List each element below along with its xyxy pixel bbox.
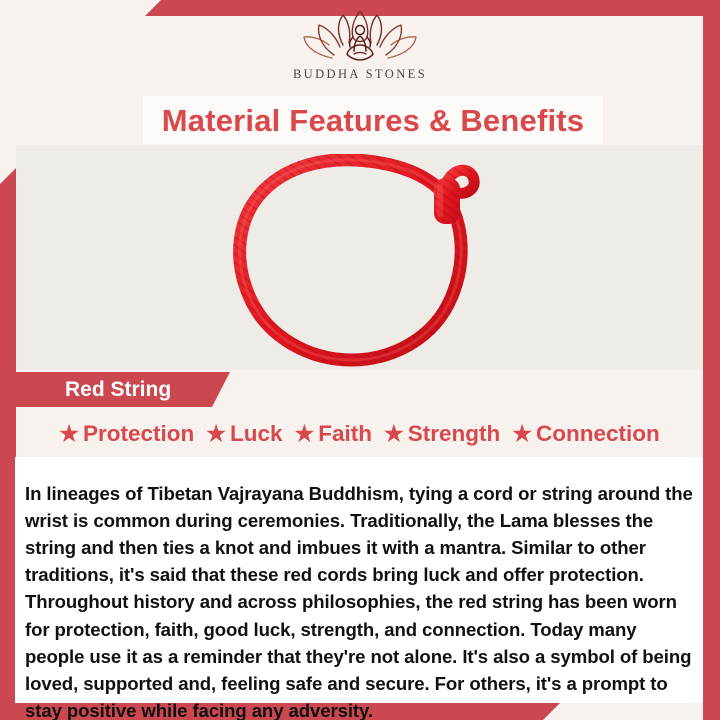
benefits-row: ★ Protection ★ Luck ★ Faith ★ Strength ★… — [16, 412, 703, 456]
star-icon: ★ — [59, 423, 79, 445]
product-name-ribbon: Red String — [15, 372, 230, 407]
star-icon: ★ — [206, 423, 226, 445]
benefit-item: ★ Luck — [200, 423, 288, 446]
star-icon: ★ — [295, 423, 315, 445]
lotus-meditation-icon — [301, 8, 419, 64]
benefit-label: Connection — [536, 423, 660, 446]
star-icon: ★ — [512, 423, 532, 445]
infographic-page: BUDDHA STONES Material Features & Benefi… — [0, 0, 720, 720]
benefit-label: Luck — [230, 423, 283, 446]
title-banner: Material Features & Benefits — [143, 96, 603, 144]
left-red-band — [0, 168, 16, 720]
benefit-label: Faith — [318, 423, 372, 446]
red-braided-string-bracelet-icon — [220, 154, 500, 369]
product-image-area — [16, 145, 703, 370]
benefit-item: ★ Protection — [53, 423, 200, 446]
page-title: Material Features & Benefits — [162, 105, 585, 136]
brand-name: BUDDHA STONES — [293, 67, 427, 82]
benefit-item: ★ Faith — [289, 423, 378, 446]
benefit-item: ★ Connection — [506, 423, 665, 446]
header: BUDDHA STONES — [0, 0, 720, 95]
product-name-label: Red String — [15, 379, 171, 400]
right-red-band — [703, 0, 720, 720]
brand-logo: BUDDHA STONES — [0, 8, 720, 82]
description-panel: In lineages of Tibetan Vajrayana Buddhis… — [15, 457, 703, 703]
benefit-item: ★ Strength — [378, 423, 506, 446]
star-icon: ★ — [384, 423, 404, 445]
description-body: In lineages of Tibetan Vajrayana Buddhis… — [25, 480, 697, 720]
benefit-label: Protection — [83, 423, 194, 446]
benefit-label: Strength — [408, 423, 501, 446]
